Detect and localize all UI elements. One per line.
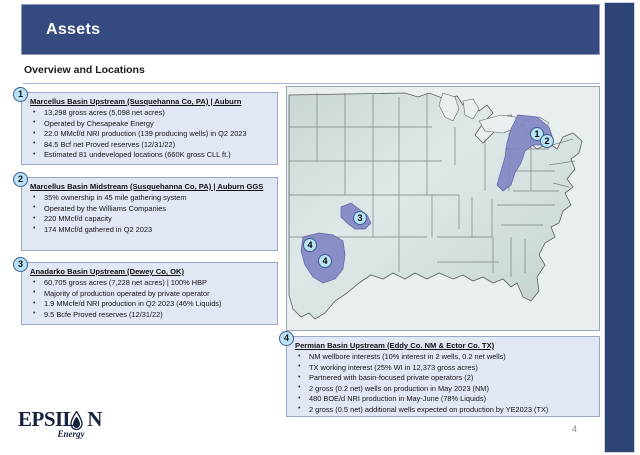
info-box-title: Anadarko Basin Upstream (Dewey Co, OK): [30, 267, 277, 276]
list-item: NM wellbore interests (10% interest in 2…: [295, 352, 599, 363]
page-title: Assets: [46, 21, 100, 39]
list-item: Operated by the Williams Companies: [30, 204, 277, 215]
logo-wordmark-right: N: [87, 407, 102, 431]
badge-3: 3: [13, 257, 28, 272]
info-box-anadarko-upstream[interactable]: Anadarko Basin Upstream (Dewey Co, OK) 6…: [21, 262, 278, 325]
list-item: TX working interest (25% WI in 12,373 gr…: [295, 363, 599, 374]
list-item: 220 MMcf/d capacity: [30, 214, 277, 225]
info-box-bullets: 60,705 gross acres (7,228 net acres) | 1…: [30, 278, 277, 320]
slide-canvas: Assets Overview and Locations 1 Marcellu…: [0, 0, 640, 455]
logo-wordmark-left: EPSIL: [18, 407, 76, 431]
list-item: 13,298 gross acres (5,098 net acres): [30, 108, 277, 119]
info-box-title: Permian Basin Upstream (Eddy Co. NM & Ec…: [295, 341, 599, 350]
map-marker-4-nm[interactable]: 4: [303, 238, 317, 252]
oil-droplet-icon: [70, 411, 83, 430]
list-item: 480 BOE/d NRI production in May-June (78…: [295, 394, 599, 405]
list-item: 2 gross (0.5 net) additional wells expec…: [295, 405, 599, 416]
page-number: 4: [572, 424, 577, 434]
us-basin-map[interactable]: 1 2 3 4 4: [286, 86, 600, 331]
list-item: Majority of production operated by priva…: [30, 289, 277, 300]
slide-title-bar: Assets: [21, 4, 600, 55]
info-box-title: Marcellus Basin Upstream (Susquehanna Co…: [30, 97, 277, 106]
badge-2: 2: [13, 172, 28, 187]
badge-4: 4: [279, 331, 294, 346]
info-box-marcellus-upstream[interactable]: Marcellus Basin Upstream (Susquehanna Co…: [21, 92, 278, 165]
section-divider: [23, 83, 600, 84]
info-box-bullets: 35% ownership in 45 mile gathering syste…: [30, 193, 277, 235]
list-item: 84.5 Bcf net Proved reserves (12/31/22): [30, 140, 277, 151]
map-marker-3[interactable]: 3: [353, 211, 367, 225]
list-item: 9.5 Bcfe Proved reserves (12/31/22): [30, 310, 277, 321]
map-marker-4-tx[interactable]: 4: [318, 254, 332, 268]
list-item: Partnered with basin-focused private ope…: [295, 373, 599, 384]
map-marker-2[interactable]: 2: [540, 134, 554, 148]
list-item: Estimated 81 undeveloped locations (660K…: [30, 150, 277, 161]
list-item: 60,705 gross acres (7,228 net acres) | 1…: [30, 278, 277, 289]
list-item: 2 gross (0.2 net) wells on production in…: [295, 384, 599, 395]
list-item: 1.9 MMcfe/d NRI production in Q2 2023 (4…: [30, 299, 277, 310]
info-box-bullets: NM wellbore interests (10% interest in 2…: [295, 352, 599, 416]
section-heading: Overview and Locations: [24, 64, 145, 76]
badge-1: 1: [13, 87, 28, 102]
info-box-marcellus-midstream[interactable]: Marcellus Basin Midstream (Susquehanna C…: [21, 177, 278, 251]
right-accent-band: [604, 2, 635, 453]
list-item: 35% ownership in 45 mile gathering syste…: [30, 193, 277, 204]
list-item: 174 MMcf/d gathered in Q2 2023: [30, 225, 277, 236]
company-logo: EPSILN Energy: [18, 408, 110, 448]
info-box-title: Marcellus Basin Midstream (Susquehanna C…: [30, 182, 277, 191]
list-item: 22.0 MMcf/d NRI production (139 producin…: [30, 129, 277, 140]
map-svg: [287, 87, 599, 330]
info-box-permian-upstream[interactable]: Permian Basin Upstream (Eddy Co. NM & Ec…: [286, 336, 600, 417]
info-box-bullets: 13,298 gross acres (5,098 net acres) Ope…: [30, 108, 277, 161]
list-item: Operated by Chesapeake Energy: [30, 119, 277, 130]
